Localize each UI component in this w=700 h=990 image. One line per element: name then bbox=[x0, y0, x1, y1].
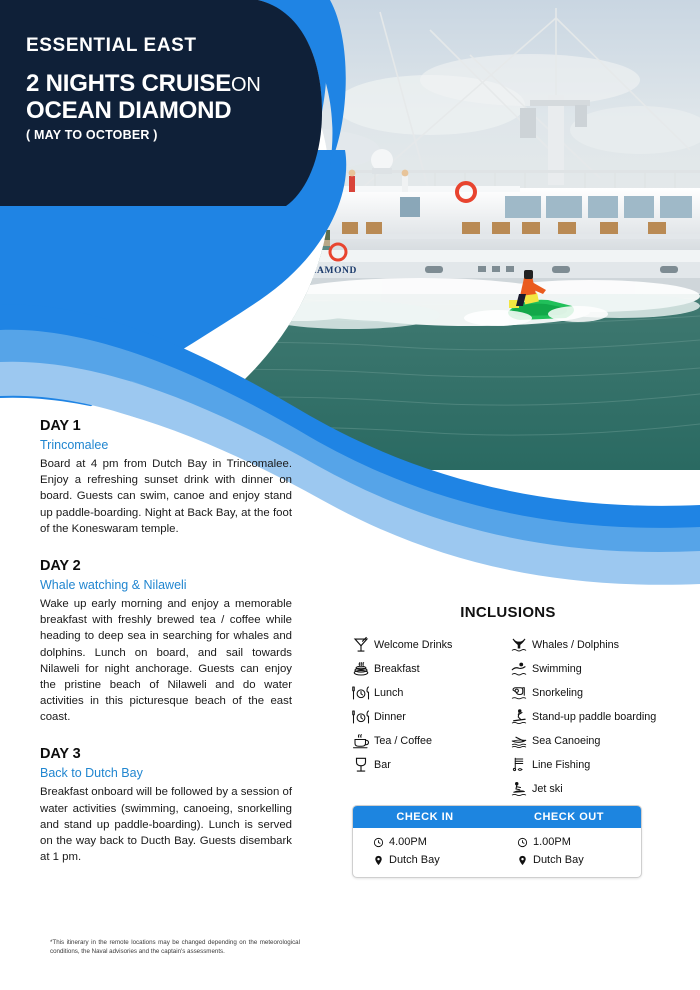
brochure-page: OCEAN DIAMOND bbox=[0, 0, 700, 990]
inclusion-item: Line Fishing bbox=[506, 753, 668, 777]
inclusion-label: Jet ski bbox=[532, 783, 563, 795]
inclusion-label: Stand-up paddle boarding bbox=[532, 711, 656, 723]
location-pin-icon bbox=[373, 855, 384, 866]
title-main: 2 NIGHTS CRUISE bbox=[26, 70, 231, 97]
inclusion-label: Lunch bbox=[374, 687, 403, 699]
check-out-place: Dutch Bay bbox=[533, 854, 584, 866]
inclusions-section: INCLUSIONS Welcome Drinks bbox=[348, 604, 668, 801]
check-in-out-table: CHECK IN CHECK OUT 4.00PM Dutch Bay bbox=[352, 805, 642, 878]
check-in-place: Dutch Bay bbox=[389, 854, 440, 866]
inclusion-label: Line Fishing bbox=[532, 759, 590, 771]
fishing-line-icon bbox=[506, 756, 532, 774]
whale-tail-icon bbox=[506, 636, 532, 654]
check-in-time: 4.00PM bbox=[389, 836, 427, 848]
cocktail-glass-icon bbox=[348, 636, 374, 654]
check-in-place-line: Dutch Bay bbox=[373, 851, 497, 869]
jet-ski-icon bbox=[506, 780, 532, 798]
swimmer-icon bbox=[506, 660, 532, 678]
kicker-title: ESSENTIAL EAST bbox=[26, 36, 261, 57]
title-on: ON bbox=[231, 74, 261, 96]
inclusion-label: Whales / Dolphins bbox=[532, 639, 619, 651]
table-header-row: CHECK IN CHECK OUT bbox=[353, 806, 641, 828]
inclusion-label: Swimming bbox=[532, 663, 582, 675]
inclusion-item: Snorkeling bbox=[506, 681, 668, 705]
check-out-place-line: Dutch Bay bbox=[517, 851, 641, 869]
location-pin-icon bbox=[517, 855, 528, 866]
itinerary-section: DAY 1 Trincomalee Board at 4 pm from Dut… bbox=[40, 418, 292, 886]
season-range: ( MAY TO OCTOBER ) bbox=[26, 128, 261, 142]
inclusion-item: Tea / Coffee bbox=[348, 729, 496, 753]
day-location: Back to Dutch Bay bbox=[40, 766, 292, 780]
day-block: DAY 3 Back to Dutch Bay Breakfast onboar… bbox=[40, 746, 292, 865]
title-ship-name: OCEAN DIAMOND bbox=[26, 98, 261, 125]
check-in-header: CHECK IN bbox=[353, 806, 497, 828]
inclusion-label: Sea Canoeing bbox=[532, 735, 600, 747]
inclusion-item: Sea Canoeing bbox=[506, 729, 668, 753]
day-heading: DAY 1 bbox=[40, 418, 292, 434]
cutlery-clock-icon bbox=[348, 684, 374, 702]
snorkel-mask-icon bbox=[506, 684, 532, 702]
inclusion-item: Stand-up paddle boarding bbox=[506, 705, 668, 729]
inclusion-label: Dinner bbox=[374, 711, 406, 723]
canoe-icon bbox=[506, 732, 532, 750]
check-out-header: CHECK OUT bbox=[497, 806, 641, 828]
pancakes-icon bbox=[348, 660, 374, 678]
inclusion-item: Dinner bbox=[348, 705, 496, 729]
clock-icon bbox=[517, 837, 528, 848]
inclusion-label: Bar bbox=[374, 759, 391, 771]
inclusions-right-column: Whales / Dolphins Swimming bbox=[506, 633, 668, 801]
day-heading: DAY 2 bbox=[40, 558, 292, 574]
check-in-cell: 4.00PM Dutch Bay bbox=[353, 833, 497, 869]
cutlery-clock-icon bbox=[348, 708, 374, 726]
inclusion-item: Bar bbox=[348, 753, 496, 777]
disclaimer-footnote: *This itinerary in the remote locations … bbox=[50, 938, 300, 957]
check-out-time-line: 1.00PM bbox=[517, 833, 641, 851]
inclusion-item: Breakfast bbox=[348, 657, 496, 681]
inclusions-title: INCLUSIONS bbox=[348, 604, 668, 621]
day-location: Whale watching & Nilaweli bbox=[40, 578, 292, 592]
day-heading: DAY 3 bbox=[40, 746, 292, 762]
day-block: DAY 2 Whale watching & Nilaweli Wake up … bbox=[40, 558, 292, 726]
check-out-time: 1.00PM bbox=[533, 836, 571, 848]
title-line-one: 2 NIGHTS CRUISEON bbox=[26, 71, 261, 98]
day-description: Breakfast onboard will be followed by a … bbox=[40, 784, 292, 865]
inclusion-item: Welcome Drinks bbox=[348, 633, 496, 657]
teacup-icon bbox=[348, 732, 374, 750]
table-body-row: 4.00PM Dutch Bay 1.00PM bbox=[353, 828, 641, 877]
inclusion-label: Snorkeling bbox=[532, 687, 583, 699]
inclusion-item: Lunch bbox=[348, 681, 496, 705]
inclusion-label: Tea / Coffee bbox=[374, 735, 432, 747]
inclusion-item: Whales / Dolphins bbox=[506, 633, 668, 657]
inclusion-item: Swimming bbox=[506, 657, 668, 681]
clock-icon bbox=[373, 837, 384, 848]
day-location: Trincomalee bbox=[40, 438, 292, 452]
svg-text:OCEAN DIAMOND: OCEAN DIAMOND bbox=[265, 266, 357, 276]
check-in-time-line: 4.00PM bbox=[373, 833, 497, 851]
day-description: Board at 4 pm from Dutch Bay in Trincoma… bbox=[40, 456, 292, 537]
day-description: Wake up early morning and enjoy a memora… bbox=[40, 596, 292, 726]
inclusion-label: Breakfast bbox=[374, 663, 420, 675]
check-out-cell: 1.00PM Dutch Bay bbox=[497, 833, 641, 869]
paddle-board-icon bbox=[506, 708, 532, 726]
inclusions-left-column: Welcome Drinks Breakfast bbox=[348, 633, 496, 801]
inclusion-item: Jet ski bbox=[506, 777, 668, 801]
wine-glass-icon bbox=[348, 756, 374, 774]
inclusion-label: Welcome Drinks bbox=[374, 639, 452, 651]
day-block: DAY 1 Trincomalee Board at 4 pm from Dut… bbox=[40, 418, 292, 537]
header-text-group: ESSENTIAL EAST 2 NIGHTS CRUISEON OCEAN D… bbox=[26, 36, 261, 142]
